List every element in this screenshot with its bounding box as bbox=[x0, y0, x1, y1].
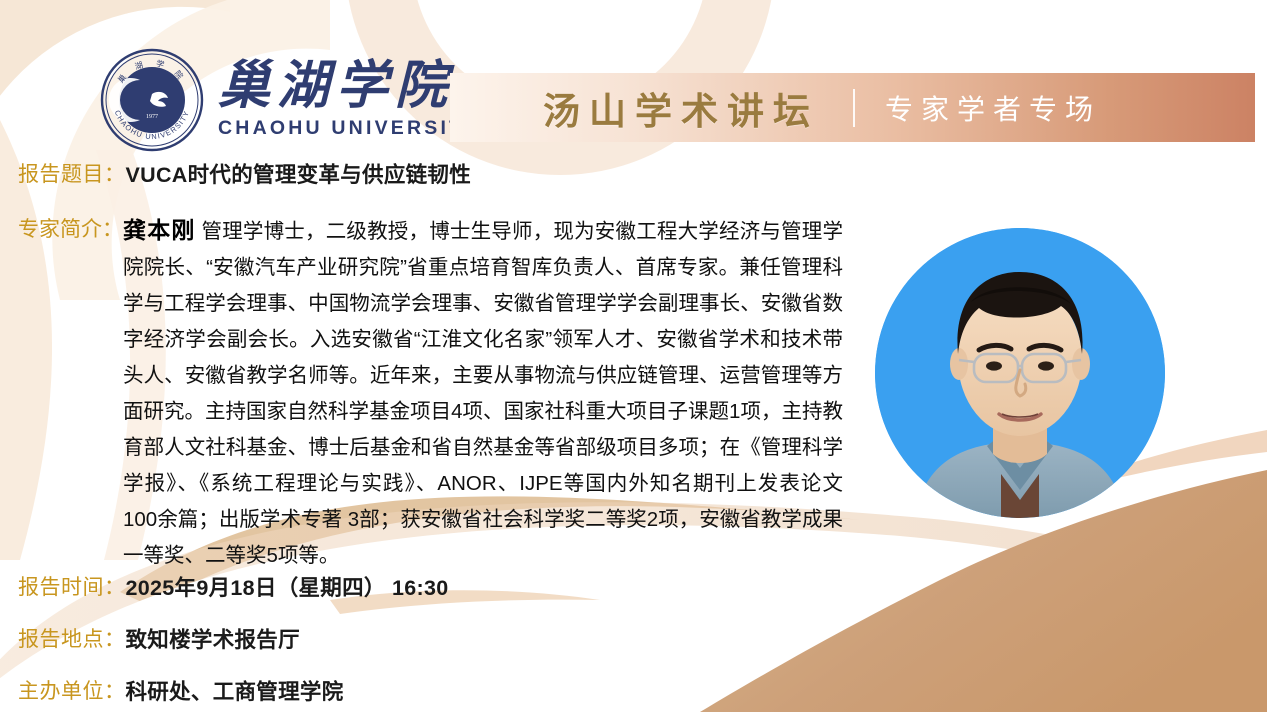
speaker-bio-row: 专家简介： 龚本刚 管理学博士，二级教授，博士生导师，现为安徽工程大学经济与管理… bbox=[18, 212, 843, 574]
forum-title: 汤山学术讲坛 bbox=[543, 81, 819, 135]
place-label: 报告地点： bbox=[18, 625, 126, 655]
speaker-name: 龚本刚 bbox=[123, 217, 196, 243]
bio-text: 管理学博士，二级教授，博士生导师，现为安徽工程大学经济与管理学院院长、“安徽汽车… bbox=[123, 220, 843, 567]
bio-label: 专家简介： bbox=[18, 212, 123, 248]
bio-body: 龚本刚 管理学博士，二级教授，博士生导师，现为安徽工程大学经济与管理学院院长、“… bbox=[123, 212, 843, 574]
university-logo: 1977 CHAOHU UNIVERSITY 巢 湖 学 院 巢湖学院 CHAO… bbox=[100, 48, 480, 152]
place-row: 报告地点： 致知楼学术报告厅 bbox=[18, 625, 300, 655]
poster-header: 1977 CHAOHU UNIVERSITY 巢 湖 学 院 巢湖学院 CHAO… bbox=[0, 0, 1267, 150]
svg-text:1977: 1977 bbox=[146, 114, 158, 120]
topic-label: 报告题目： bbox=[18, 160, 126, 190]
time-label: 报告时间： bbox=[18, 573, 126, 603]
time-value: 2025年9月18日（星期四） 16:30 bbox=[126, 573, 449, 603]
university-name-en: CHAOHU UNIVERSITY bbox=[218, 117, 480, 140]
banner-divider-icon bbox=[853, 89, 855, 127]
topic-row: 报告题目： VUCA时代的管理变革与供应链韧性 bbox=[18, 160, 471, 190]
university-name-cn: 巢湖学院 bbox=[218, 60, 480, 115]
forum-banner: 汤山学术讲坛 专家学者专场 bbox=[450, 73, 1255, 142]
time-row: 报告时间： 2025年9月18日（星期四） 16:30 bbox=[18, 573, 448, 603]
organizer-value: 科研处、工商管理学院 bbox=[126, 677, 344, 707]
topic-value: VUCA时代的管理变革与供应链韧性 bbox=[126, 160, 472, 190]
university-seal-icon: 1977 CHAOHU UNIVERSITY 巢 湖 学 院 bbox=[100, 48, 204, 152]
lecture-poster: 1977 CHAOHU UNIVERSITY 巢 湖 学 院 巢湖学院 CHAO… bbox=[0, 0, 1267, 712]
speaker-portrait bbox=[875, 228, 1165, 518]
forum-subtitle: 专家学者专场 bbox=[885, 88, 1101, 128]
university-wordmark: 巢湖学院 CHAOHU UNIVERSITY bbox=[218, 60, 480, 141]
organizer-row: 主办单位： 科研处、工商管理学院 bbox=[18, 677, 344, 707]
place-value: 致知楼学术报告厅 bbox=[126, 625, 300, 655]
organizer-label: 主办单位： bbox=[18, 677, 126, 707]
